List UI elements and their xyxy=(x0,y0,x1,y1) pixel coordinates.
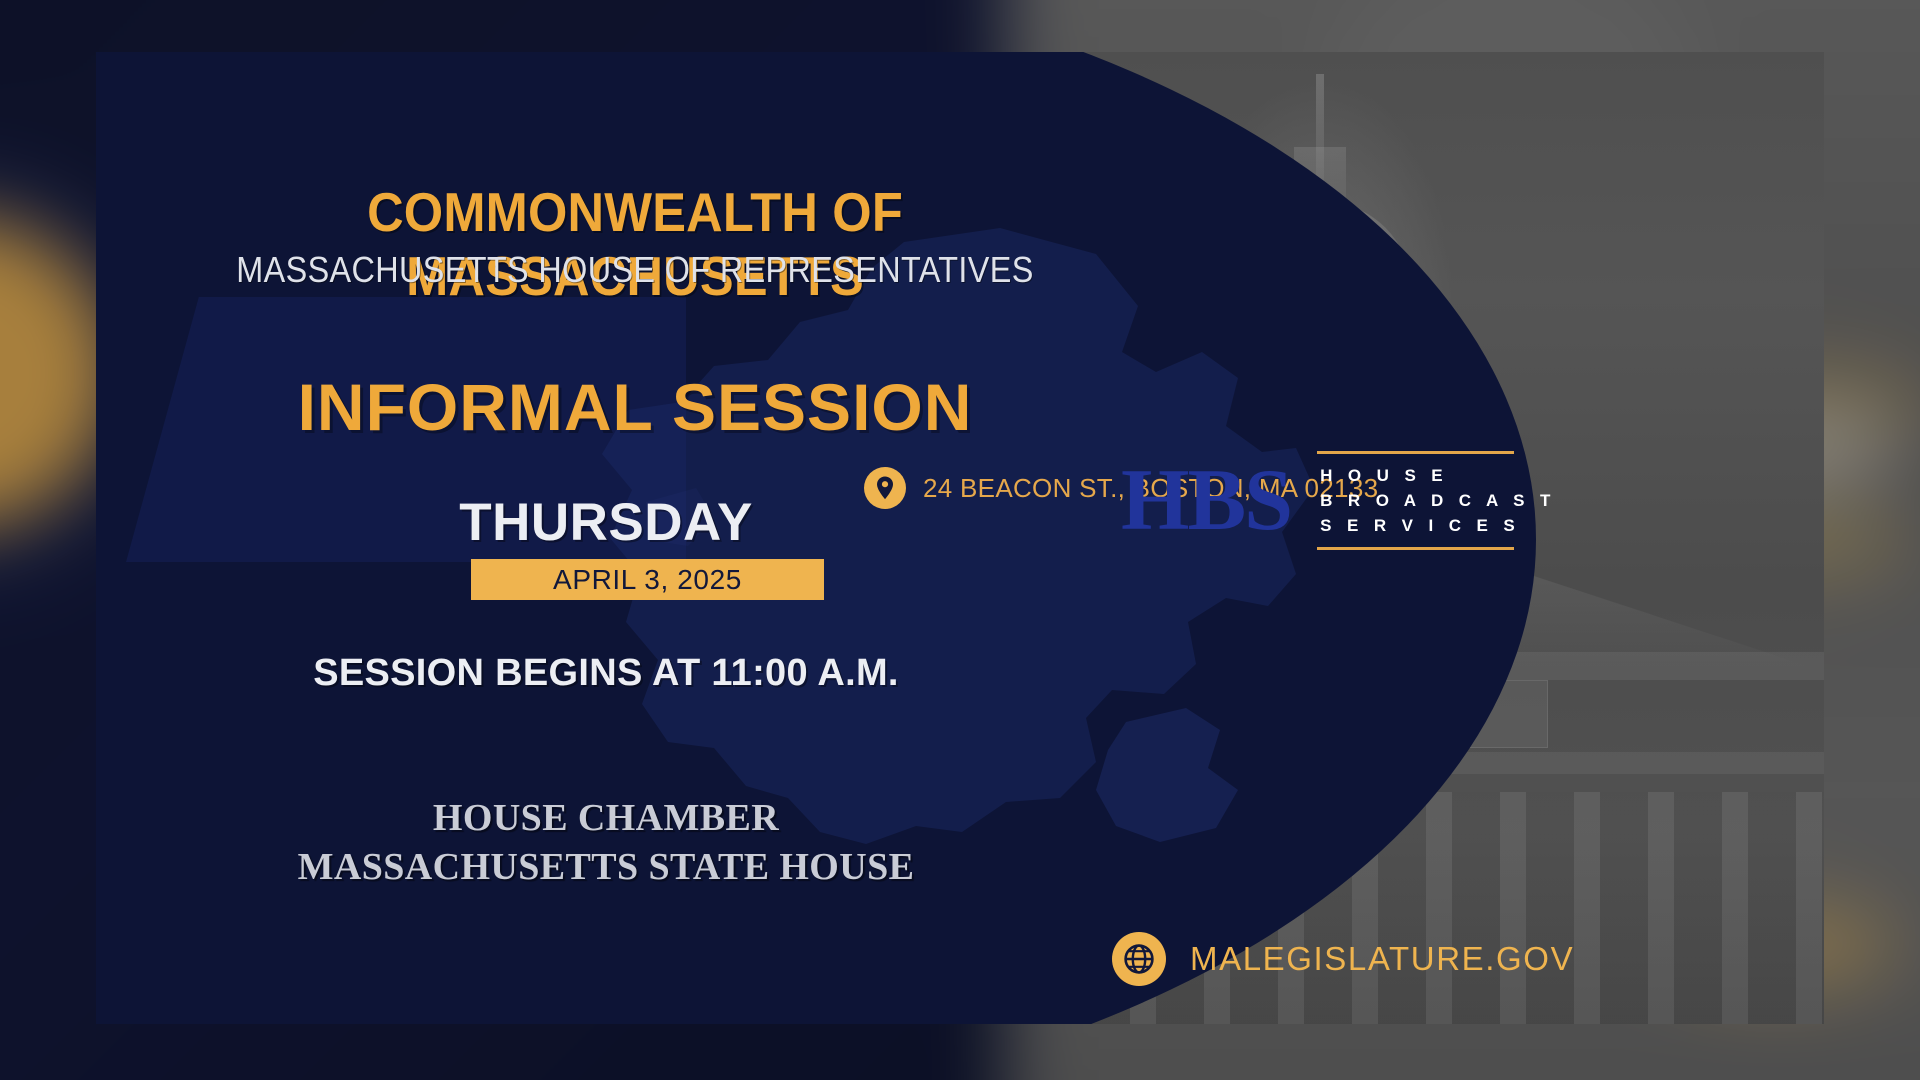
session-type-heading: INFORMAL SESSION xyxy=(110,369,1160,445)
session-content: COMMONWEALTH OF MASSACHUSETTS MASSACHUSE… xyxy=(96,52,1196,1024)
website-block[interactable]: MALEGISLATURE.GOV xyxy=(1112,932,1574,986)
page-subtitle: MASSACHUSETTS HOUSE OF REPRESENTATIVES xyxy=(163,249,1108,291)
venue-line-2: MASSACHUSETTS STATE HOUSE xyxy=(156,843,1056,892)
hbs-line-house: H O U S E xyxy=(1320,463,1556,488)
session-date: APRIL 3, 2025 xyxy=(553,564,742,596)
session-date-bar: APRIL 3, 2025 xyxy=(471,559,824,600)
hbs-logo: HBS H O U S E B R O A D C A S T S E R V … xyxy=(1121,446,1556,556)
hbs-wordmark: H O U S E B R O A D C A S T S E R V I C … xyxy=(1317,446,1556,556)
session-day: THURSDAY xyxy=(396,492,816,553)
venue-line-1: HOUSE CHAMBER xyxy=(156,794,1056,843)
hbs-line-services: S E R V I C E S xyxy=(1320,513,1556,538)
slide-stage: COMMONWEALTH OF MASSACHUSETTS MASSACHUSE… xyxy=(0,0,1920,1080)
website-url[interactable]: MALEGISLATURE.GOV xyxy=(1190,940,1574,978)
hbs-rule-bottom xyxy=(1317,547,1514,550)
location-pin-icon xyxy=(864,467,906,509)
hbs-monogram: HBS xyxy=(1121,457,1291,545)
slide-card: COMMONWEALTH OF MASSACHUSETTS MASSACHUSE… xyxy=(96,52,1824,1024)
session-start-time: SESSION BEGINS AT 11:00 A.M. xyxy=(191,652,1021,695)
hbs-lines: H O U S E B R O A D C A S T S E R V I C … xyxy=(1317,454,1556,547)
hbs-line-broadcast: B R O A D C A S T xyxy=(1320,488,1556,513)
globe-icon xyxy=(1112,932,1166,986)
venue-block: HOUSE CHAMBER MASSACHUSETTS STATE HOUSE xyxy=(156,794,1056,891)
